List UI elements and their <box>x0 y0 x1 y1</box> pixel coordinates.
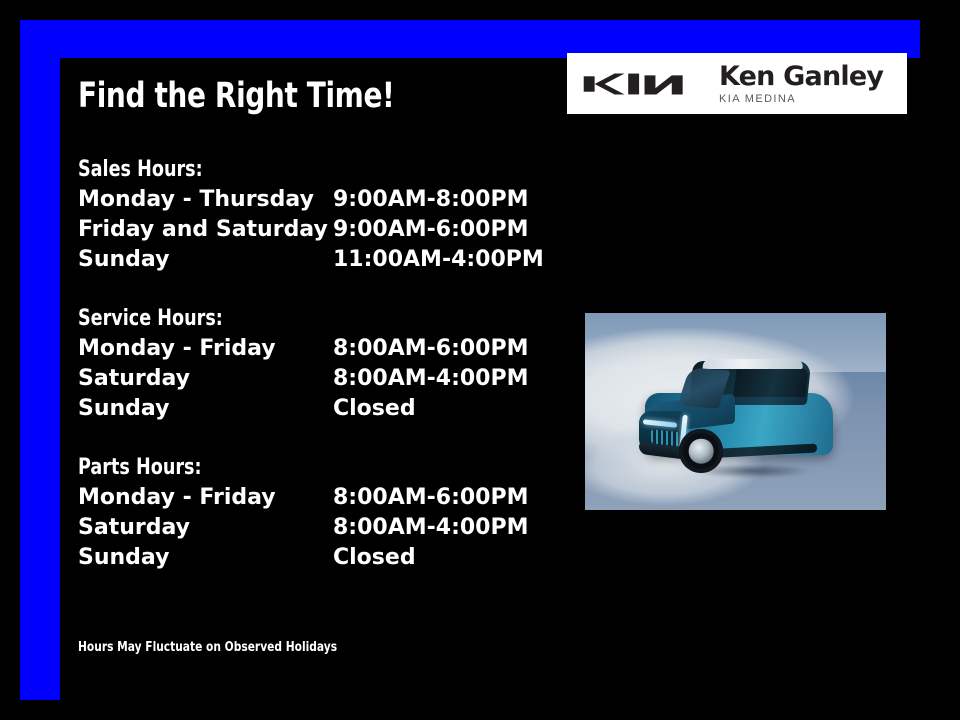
hours-row-day: Monday - Friday <box>78 483 333 513</box>
hours-row-day: Saturday <box>78 364 333 394</box>
hours-row-time: 8:00AM-6:00PM <box>333 483 548 513</box>
hours-section-service: Service Hours: Monday - Friday 8:00AM-6:… <box>78 304 548 424</box>
hours-row: Monday - Friday 8:00AM-6:00PM <box>78 483 548 513</box>
hours-row-time-text: 8:00AM-4:00PM <box>333 366 529 391</box>
hours-row: Monday - Friday 8:00AM-6:00PM <box>78 334 548 364</box>
hours-row-time: Closed <box>333 543 548 573</box>
hours-row-time: 8:00AM-4:00PM <box>333 364 548 394</box>
dealer-name: Ken Ganley <box>719 63 883 90</box>
hours-row-day-text: Monday - Thursday <box>78 187 314 212</box>
section-heading: Sales Hours: <box>78 155 548 185</box>
hours-row: Sunday Closed <box>78 394 548 424</box>
kia-ev9-vehicle <box>631 349 847 479</box>
hours-row-day: Sunday <box>78 245 333 275</box>
hours-row-day: Monday - Friday <box>78 334 333 364</box>
hours-section-sales: Sales Hours: Monday - Thursday 9:00AM-8:… <box>78 155 548 275</box>
hours-row-day-text: Monday - Friday <box>78 485 276 510</box>
hours-row-day-text: Sunday <box>78 396 169 421</box>
hours-row-time: Closed <box>333 394 548 424</box>
hours-row-time-text: 8:00AM-6:00PM <box>333 485 529 510</box>
hours-row-time-text: 9:00AM-6:00PM <box>333 217 529 242</box>
hours-row-time: 9:00AM-6:00PM <box>333 215 548 245</box>
hours-row-time-text: Closed <box>333 396 416 421</box>
hours-row-time-text: Closed <box>333 545 416 570</box>
hours-row-day: Friday and Saturday <box>78 215 333 245</box>
hours-row: Saturday 8:00AM-4:00PM <box>78 364 548 394</box>
vehicle-roof <box>702 359 803 369</box>
hours-row: Monday - Thursday 9:00AM-8:00PM <box>78 185 548 215</box>
hours-row-time: 9:00AM-8:00PM <box>333 185 548 215</box>
hours-row-time: 11:00AM-4:00PM <box>333 245 548 275</box>
hours-row-time-text: 8:00AM-6:00PM <box>333 336 529 361</box>
page-title: Find the Right Time! <box>78 76 394 116</box>
slide-canvas: Find the Right Time! Sales Hours: Monday… <box>0 0 960 720</box>
hours-row-day: Sunday <box>78 543 333 573</box>
holiday-disclaimer: Hours May Fluctuate on Observed Holidays <box>78 640 394 655</box>
hours-row-day-text: Saturday <box>78 366 190 391</box>
hours-row-day-text: Sunday <box>78 247 169 272</box>
vehicle-front-wheel <box>679 429 723 473</box>
hours-row-time: 8:00AM-6:00PM <box>333 334 548 364</box>
hours-row-day-text: Saturday <box>78 515 190 540</box>
section-heading-text: Service Hours: <box>78 304 223 334</box>
hours-row-day: Sunday <box>78 394 333 424</box>
hours-row: Sunday 11:00AM-4:00PM <box>78 245 548 275</box>
vehicle-front-rim <box>689 439 714 464</box>
section-heading: Parts Hours: <box>78 453 548 483</box>
dealer-name-block: Ken Ganley KIA MEDINA <box>719 63 883 105</box>
hours-row-day-text: Friday and Saturday <box>78 217 328 242</box>
kia-logo-icon <box>581 69 699 99</box>
hours-row-time-text: 8:00AM-4:00PM <box>333 515 529 540</box>
hours-row-day: Monday - Thursday <box>78 185 333 215</box>
section-heading-text: Sales Hours: <box>78 155 203 185</box>
hours-row-day-text: Monday - Friday <box>78 336 276 361</box>
hours-row: Saturday 8:00AM-4:00PM <box>78 513 548 543</box>
hours-section-parts: Parts Hours: Monday - Friday 8:00AM-6:00… <box>78 453 548 573</box>
vehicle-photo <box>585 313 886 510</box>
holiday-disclaimer-text: Hours May Fluctuate on Observed Holidays <box>78 640 337 655</box>
vehicle-side-glass <box>733 367 809 397</box>
hours-row: Friday and Saturday 9:00AM-6:00PM <box>78 215 548 245</box>
dealer-logo-lockup: Ken Ganley KIA MEDINA <box>567 53 907 114</box>
section-heading-text: Parts Hours: <box>78 453 202 483</box>
section-heading: Service Hours: <box>78 304 548 334</box>
hours-row-day: Saturday <box>78 513 333 543</box>
hours-row-time-text: 11:00AM-4:00PM <box>333 247 544 272</box>
page-title-text: Find the Right Time! <box>78 76 394 116</box>
hours-row-time: 8:00AM-4:00PM <box>333 513 548 543</box>
hours-row-time-text: 9:00AM-8:00PM <box>333 187 529 212</box>
hours-row-day-text: Sunday <box>78 545 169 570</box>
hours-row: Sunday Closed <box>78 543 548 573</box>
hours-list: Sales Hours: Monday - Thursday 9:00AM-8:… <box>78 155 548 573</box>
dealer-subtitle: KIA MEDINA <box>719 93 883 105</box>
